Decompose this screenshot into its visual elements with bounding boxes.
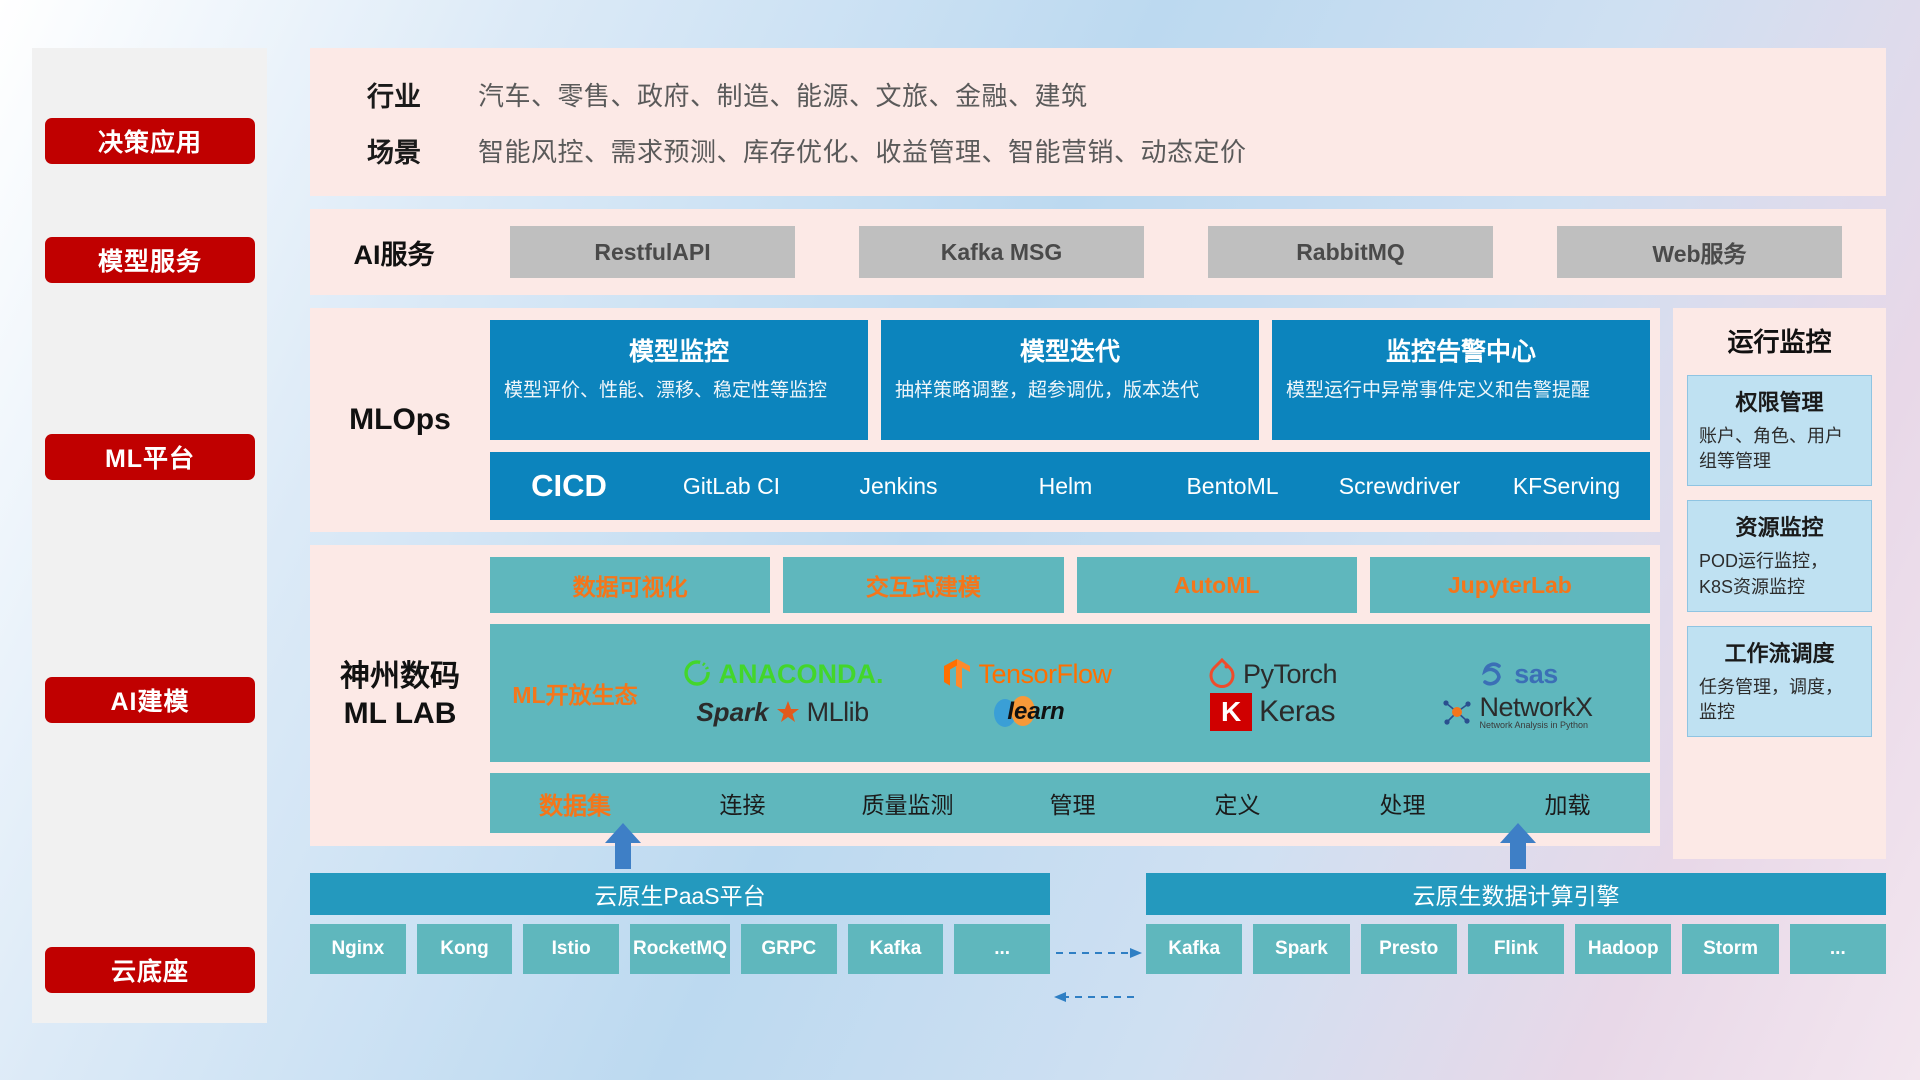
tab-automl[interactable]: AutoML: [1077, 557, 1357, 613]
logo-networkx-subtext: Network Analysis in Python: [1479, 721, 1592, 730]
monitor-card-permission[interactable]: 权限管理 账户、角色、用户组等管理: [1687, 375, 1872, 486]
cicd-title: CICD: [490, 468, 648, 504]
logo-pytorch-text: PyTorch: [1243, 659, 1337, 690]
cloud-chip-kong[interactable]: Kong: [417, 924, 513, 974]
mlops-card-list: 模型监控 模型评价、性能、漂移、稳定性等监控 模型迭代 抽样策略调整，超参调优，…: [490, 320, 1650, 440]
logo-pytorch: PyTorch: [1208, 658, 1337, 690]
mlops-card-model-monitoring[interactable]: 模型监控 模型评价、性能、漂移、稳定性等监控: [490, 320, 868, 440]
mlops-card-desc: 抽样策略调整，超参调优，版本迭代: [895, 377, 1245, 405]
up-arrow-paas-icon: [603, 823, 643, 869]
stage-column: 决策应用 模型服务 ML平台 AI建模 云底座: [32, 48, 267, 1023]
cloud-paas-chip-list: Nginx Kong Istio RocketMQ GRPC Kafka ...: [310, 924, 1050, 974]
ai-service-label: AI服务: [310, 233, 478, 272]
architecture-main: 行业 汽车、零售、政府、制造、能源、文旅、金融、建筑 场景 智能风控、需求预测、…: [310, 48, 1886, 974]
ml-ecosystem-label: ML开放生态: [490, 676, 660, 710]
ml-lab-panel: 神州数码 ML LAB 数据可视化 交互式建模 AutoML JupyterLa…: [310, 545, 1660, 846]
cloud-paas-column: 云原生PaaS平台 Nginx Kong Istio RocketMQ GRPC…: [310, 873, 1050, 974]
monitor-card-title: 工作流调度: [1699, 636, 1860, 668]
dataset-item-manage[interactable]: 管理: [990, 786, 1155, 820]
mlops-panel: MLOps 模型监控 模型评价、性能、漂移、稳定性等监控 模型迭代 抽样策略调整…: [310, 308, 1660, 532]
up-arrow-compute-icon: [1498, 823, 1538, 869]
stage-chip-model-service[interactable]: 模型服务: [45, 237, 255, 283]
cloud-chip-spark[interactable]: Spark: [1253, 924, 1349, 974]
networkx-icon: [1442, 697, 1472, 727]
logo-sas: sas: [1477, 659, 1558, 690]
cicd-item-gitlab-ci[interactable]: GitLab CI: [648, 473, 815, 499]
mlops-card-title: 监控告警中心: [1286, 332, 1636, 368]
monitor-card-desc: POD运行监控，K8S资源监控: [1699, 549, 1860, 599]
dataset-label: 数据集: [490, 786, 660, 821]
scenario-row: 场景 智能风控、需求预测、库存优化、收益管理、智能营销、动态定价: [310, 122, 1886, 178]
cicd-item-helm[interactable]: Helm: [982, 473, 1149, 499]
cloud-chip-kafka-right[interactable]: Kafka: [1146, 924, 1242, 974]
monitoring-column: 运行监控 权限管理 账户、角色、用户组等管理 资源监控 POD运行监控，K8S资…: [1673, 308, 1886, 859]
dataset-row: 数据集 连接 质量监测 管理 定义 处理 加载: [490, 773, 1650, 833]
ml-ecosystem-logo-grid: ANACONDA. TensorFlow: [660, 649, 1650, 737]
ml-lab-label-line2: ML LAB: [340, 695, 460, 733]
platform-middle-section: MLOps 模型监控 模型评价、性能、漂移、稳定性等监控 模型迭代 抽样策略调整…: [310, 308, 1886, 859]
cloud-chip-hadoop[interactable]: Hadoop: [1575, 924, 1671, 974]
monitoring-title: 运行监控: [1687, 322, 1872, 359]
cloud-chip-presto[interactable]: Presto: [1361, 924, 1457, 974]
mlops-card-model-iteration[interactable]: 模型迭代 抽样策略调整，超参调优，版本迭代: [881, 320, 1259, 440]
cloud-foundation-section: 云原生PaaS平台 Nginx Kong Istio RocketMQ GRPC…: [310, 873, 1886, 974]
bidirectional-dashed-arrows-icon: [1050, 921, 1146, 1041]
ai-service-panel: AI服务 RestfulAPI Kafka MSG RabbitMQ Web服务: [310, 209, 1886, 295]
logo-keras: K Keras: [1210, 693, 1335, 731]
ai-service-list: RestfulAPI Kafka MSG RabbitMQ Web服务: [478, 226, 1886, 278]
anaconda-icon: [682, 659, 712, 689]
logo-learn-text: learn: [1007, 698, 1064, 726]
cloud-link-spacer: [1050, 873, 1146, 974]
ai-service-web[interactable]: Web服务: [1557, 226, 1842, 278]
logo-sas-text: sas: [1514, 659, 1558, 690]
logo-anaconda: ANACONDA.: [682, 659, 884, 690]
cloud-chip-more-left[interactable]: ...: [954, 924, 1050, 974]
keras-icon: K: [1210, 693, 1252, 731]
monitoring-panel: 运行监控 权限管理 账户、角色、用户组等管理 资源监控 POD运行监控，K8S资…: [1673, 308, 1886, 859]
cloud-compute-chip-list: Kafka Spark Presto Flink Hadoop Storm ..…: [1146, 924, 1886, 974]
logo-scikit-learn: learn: [990, 695, 1064, 729]
cloud-paas-title: 云原生PaaS平台: [310, 873, 1050, 915]
tensorflow-icon: [943, 658, 971, 690]
ml-lab-tab-list: 数据可视化 交互式建模 AutoML JupyterLab: [490, 557, 1650, 613]
cicd-item-bentoml[interactable]: BentoML: [1149, 473, 1316, 499]
cloud-compute-column: 云原生数据计算引擎 Kafka Spark Presto Flink Hadoo…: [1146, 873, 1886, 974]
cloud-chip-storm[interactable]: Storm: [1682, 924, 1778, 974]
pytorch-icon: [1208, 658, 1236, 690]
tab-interactive-modeling[interactable]: 交互式建模: [783, 557, 1063, 613]
logo-spark-text: Spark: [696, 697, 768, 728]
dataset-item-quality-monitor[interactable]: 质量监测: [825, 786, 990, 820]
dataset-item-connect[interactable]: 连接: [660, 786, 825, 820]
spark-star-icon: [776, 700, 800, 724]
dataset-item-list: 连接 质量监测 管理 定义 处理 加载: [660, 786, 1650, 820]
cicd-item-list: GitLab CI Jenkins Helm BentoML Screwdriv…: [648, 473, 1650, 499]
logo-networkx-text: NetworkX: [1479, 694, 1592, 721]
scenario-value: 智能风控、需求预测、库存优化、收益管理、智能营销、动态定价: [478, 132, 1247, 169]
mlops-card-title: 模型迭代: [895, 332, 1245, 368]
stage-chip-cloud-base[interactable]: 云底座: [45, 947, 255, 993]
logo-anaconda-text: ANACONDA.: [719, 659, 884, 690]
mlops-card-desc: 模型评价、性能、漂移、稳定性等监控: [504, 377, 854, 405]
cloud-chip-grpc[interactable]: GRPC: [741, 924, 837, 974]
monitor-card-workflow[interactable]: 工作流调度 任务管理，调度，监控: [1687, 626, 1872, 737]
cicd-bar: CICD GitLab CI Jenkins Helm BentoML Scre…: [490, 452, 1650, 520]
stage-chip-decision-app[interactable]: 决策应用: [45, 118, 255, 164]
industry-value: 汽车、零售、政府、制造、能源、文旅、金融、建筑: [478, 76, 1088, 113]
ai-service-kafka-msg[interactable]: Kafka MSG: [859, 226, 1144, 278]
cloud-chip-kafka[interactable]: Kafka: [848, 924, 944, 974]
monitor-card-desc: 任务管理，调度，监控: [1699, 675, 1860, 725]
industry-row: 行业 汽车、零售、政府、制造、能源、文旅、金融、建筑: [310, 66, 1886, 122]
ai-service-restfulapi[interactable]: RestfulAPI: [510, 226, 795, 278]
cloud-chip-nginx[interactable]: Nginx: [310, 924, 406, 974]
cicd-item-jenkins[interactable]: Jenkins: [815, 473, 982, 499]
mlops-card-title: 模型监控: [504, 332, 854, 368]
monitor-card-resource[interactable]: 资源监控 POD运行监控，K8S资源监控: [1687, 500, 1872, 611]
logo-networkx: NetworkX Network Analysis in Python: [1442, 694, 1592, 730]
mlops-card-alert-center[interactable]: 监控告警中心 模型运行中异常事件定义和告警提醒: [1272, 320, 1650, 440]
stage-chip-ml-platform[interactable]: ML平台: [45, 434, 255, 480]
cicd-item-kfserving[interactable]: KFServing: [1483, 473, 1650, 499]
logo-spark-mllib: Spark MLlib: [696, 697, 868, 728]
logo-tensorflow-text: TensorFlow: [978, 659, 1111, 690]
logo-keras-text: Keras: [1259, 695, 1335, 729]
tab-jupyterlab[interactable]: JupyterLab: [1370, 557, 1650, 613]
monitor-card-title: 资源监控: [1699, 510, 1860, 542]
ml-ecosystem-row: ML开放生态 ANACONDA.: [490, 624, 1650, 762]
mlops-label: MLOps: [310, 320, 490, 520]
cloud-chip-more-right[interactable]: ...: [1790, 924, 1886, 974]
logo-tensorflow: TensorFlow: [943, 658, 1111, 690]
ai-service-rabbitmq[interactable]: RabbitMQ: [1208, 226, 1493, 278]
ml-lab-label-line1: 神州数码: [340, 658, 460, 696]
industry-label: 行业: [310, 75, 478, 114]
dataset-item-define[interactable]: 定义: [1155, 786, 1320, 820]
cloud-chip-rocketmq[interactable]: RocketMQ: [630, 924, 730, 974]
cloud-chip-flink[interactable]: Flink: [1468, 924, 1564, 974]
stage-chip-ai-modeling[interactable]: AI建模: [45, 677, 255, 723]
monitor-card-desc: 账户、角色、用户组等管理: [1699, 424, 1860, 474]
industry-scenario-panel: 行业 汽车、零售、政府、制造、能源、文旅、金融、建筑 场景 智能风控、需求预测、…: [310, 48, 1886, 196]
ml-lab-label: 神州数码 ML LAB: [310, 557, 490, 833]
tab-data-visualization[interactable]: 数据可视化: [490, 557, 770, 613]
cloud-compute-title: 云原生数据计算引擎: [1146, 873, 1886, 915]
cloud-chip-istio[interactable]: Istio: [523, 924, 619, 974]
platform-left-column: MLOps 模型监控 模型评价、性能、漂移、稳定性等监控 模型迭代 抽样策略调整…: [310, 308, 1660, 859]
cicd-item-screwdriver[interactable]: Screwdriver: [1316, 473, 1483, 499]
monitor-card-title: 权限管理: [1699, 385, 1860, 417]
dataset-item-load[interactable]: 加载: [1485, 786, 1650, 820]
sas-icon: [1477, 659, 1507, 689]
mlops-card-desc: 模型运行中异常事件定义和告警提醒: [1286, 377, 1636, 405]
logo-mllib-text: MLlib: [807, 697, 869, 728]
dataset-item-process[interactable]: 处理: [1320, 786, 1485, 820]
scenario-label: 场景: [310, 131, 478, 170]
